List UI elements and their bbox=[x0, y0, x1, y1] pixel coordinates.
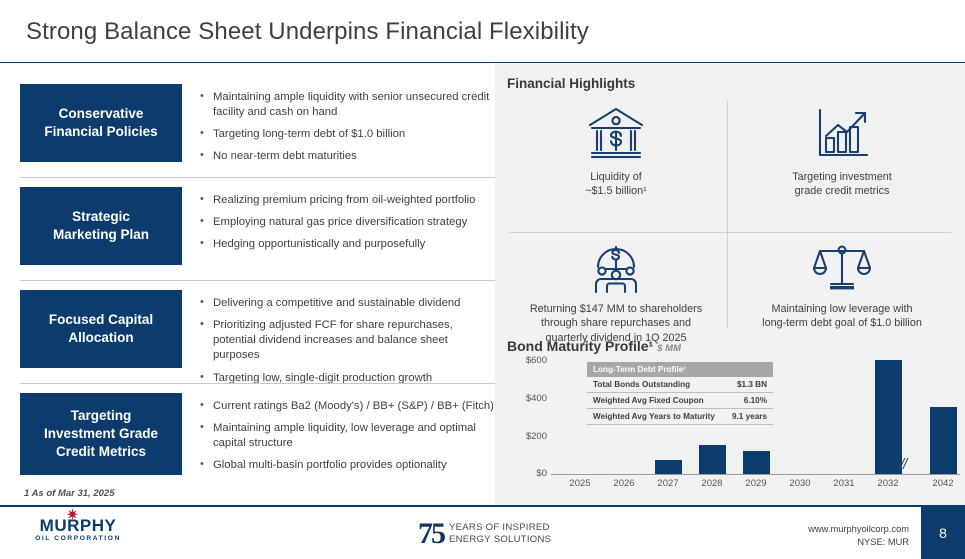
table-row: Weighted Avg Fixed Coupon 6.10% bbox=[587, 393, 773, 409]
pillar-heading-2: Strategic Marketing Plan bbox=[20, 187, 182, 265]
table-cell-value: 9.1 years bbox=[725, 409, 773, 425]
list-item: Realizing premium pricing from oil-weigh… bbox=[200, 193, 495, 208]
long-term-debt-profile-table: Long-Term Debt Profile¹ Total Bonds Outs… bbox=[587, 362, 773, 425]
pillar-conservative-financial-policies: Conservative Financial Policies Maintain… bbox=[20, 84, 495, 171]
table-row: Total Bonds Outstanding $1.3 BN bbox=[587, 377, 773, 393]
star-icon: ✷ bbox=[67, 508, 78, 521]
shareholder-returns-icon bbox=[585, 239, 647, 297]
list-item: Maintaining ample liquidity, low leverag… bbox=[200, 421, 495, 451]
chart-plot: $600 $400 $200 $0 // bbox=[505, 360, 960, 498]
pillar-divider-3 bbox=[20, 383, 495, 384]
left-pillars-column: Conservative Financial Policies Maintain… bbox=[0, 63, 495, 505]
logo-subtitle: OIL CORPORATION bbox=[18, 535, 138, 542]
bank-dollar-icon bbox=[585, 103, 647, 165]
chart-baseline bbox=[551, 474, 960, 475]
chart-y-axis: $600 $400 $200 $0 bbox=[505, 360, 547, 475]
website-link[interactable]: www.murphyoilcorp.com bbox=[808, 523, 909, 536]
axis-break-icon: // bbox=[900, 456, 906, 473]
chart-title-text: Bond Maturity Profile¹ bbox=[507, 338, 653, 354]
bar-2029 bbox=[743, 451, 770, 474]
bar-2032 bbox=[875, 360, 902, 474]
table-cell-label: Weighted Avg Fixed Coupon bbox=[587, 393, 725, 409]
x-tick-2028: 2028 bbox=[690, 478, 734, 489]
footer-links: www.murphyoilcorp.com NYSE: MUR bbox=[808, 523, 909, 550]
bond-maturity-chart: Bond Maturity Profile¹$ MM $600 $400 $20… bbox=[505, 338, 960, 503]
x-tick-2026: 2026 bbox=[602, 478, 646, 489]
x-tick-2032: 2032 bbox=[866, 478, 910, 489]
page-title: Strong Balance Sheet Underpins Financial… bbox=[26, 18, 589, 46]
highlight-cell-credit-metrics: Targeting investment grade credit metric… bbox=[733, 103, 951, 199]
pillar-bullets-1: Maintaining ample liquidity with senior … bbox=[182, 84, 495, 171]
anniversary-badge: 75 YEARS OF INSPIRED ENERGY SOLUTIONS bbox=[418, 519, 551, 549]
table-cell-label: Total Bonds Outstanding bbox=[587, 377, 725, 393]
highlight-label-credit-metrics: Targeting investment grade credit metric… bbox=[792, 170, 892, 199]
growth-chart-arrow-icon bbox=[813, 103, 871, 165]
x-tick-2042: 2042 bbox=[921, 478, 965, 489]
x-tick-2031: 2031 bbox=[822, 478, 866, 489]
list-item: Maintaining ample liquidity with senior … bbox=[200, 90, 495, 120]
list-item: No near-term debt maturities bbox=[200, 149, 495, 164]
anniversary-line-1: YEARS OF INSPIRED bbox=[449, 522, 551, 534]
y-tick-600: $600 bbox=[509, 355, 547, 366]
y-tick-200: $200 bbox=[509, 431, 547, 442]
list-item: Prioritizing adjusted FCF for share repu… bbox=[200, 318, 495, 363]
x-tick-2027: 2027 bbox=[646, 478, 690, 489]
y-tick-0: $0 bbox=[509, 468, 547, 479]
bar-2028 bbox=[699, 445, 726, 474]
pillar-bullets-4: Current ratings Ba2 (Moody's) / BB+ (S&P… bbox=[182, 393, 495, 480]
list-item: Employing natural gas price diversificat… bbox=[200, 215, 495, 230]
financial-highlights-grid: Liquidity of ~$1.5 billion¹ Targeting in… bbox=[505, 99, 955, 331]
anniversary-line-2: ENERGY SOLUTIONS bbox=[449, 534, 551, 546]
chart-plot-area: // Long-Term Debt Profile¹ Total Bonds O… bbox=[551, 360, 960, 475]
list-item: Global multi-basin portfolio provides op… bbox=[200, 458, 495, 473]
financial-highlights-heading: Financial Highlights bbox=[507, 76, 635, 91]
table-row: Weighted Avg Years to Maturity 9.1 years bbox=[587, 409, 773, 425]
highlight-label-low-leverage: Maintaining low leverage with long-term … bbox=[762, 302, 922, 331]
pillar-focused-capital-allocation: Focused Capital Allocation Delivering a … bbox=[20, 290, 495, 392]
logo-wordmark: ✷ MURPHY bbox=[18, 517, 138, 534]
table-cell-value: $1.3 BN bbox=[725, 377, 773, 393]
table-cell-value: 6.10% bbox=[725, 393, 773, 409]
highlights-horizontal-divider bbox=[509, 232, 951, 233]
pillar-strategic-marketing-plan: Strategic Marketing Plan Realizing premi… bbox=[20, 187, 495, 265]
anniversary-number: 75 bbox=[418, 519, 444, 549]
pillar-bullets-3: Delivering a competitive and sustainable… bbox=[182, 290, 495, 392]
highlight-cell-shareholder-returns: Returning $147 MM to shareholders throug… bbox=[507, 239, 725, 345]
pillar-bullets-2: Realizing premium pricing from oil-weigh… bbox=[182, 187, 495, 265]
murphy-oil-logo: ✷ MURPHY OIL CORPORATION bbox=[18, 517, 138, 542]
footnote: 1 As of Mar 31, 2025 bbox=[24, 488, 114, 499]
chart-title: Bond Maturity Profile¹$ MM bbox=[507, 338, 960, 354]
x-tick-2030: 2030 bbox=[778, 478, 822, 489]
pillar-heading-1: Conservative Financial Policies bbox=[20, 84, 182, 162]
highlight-cell-low-leverage: Maintaining low leverage with long-term … bbox=[733, 239, 951, 331]
chart-unit-label: $ MM bbox=[657, 343, 681, 354]
x-tick-2029: 2029 bbox=[734, 478, 778, 489]
y-tick-400: $400 bbox=[509, 393, 547, 404]
pillar-divider-2 bbox=[20, 280, 495, 281]
balance-scale-icon bbox=[813, 239, 871, 297]
pillar-heading-3: Focused Capital Allocation bbox=[20, 290, 182, 368]
slide-footer: ✷ MURPHY OIL CORPORATION 75 YEARS OF INS… bbox=[0, 505, 965, 559]
page-number: 8 bbox=[921, 507, 965, 559]
list-item: Current ratings Ba2 (Moody's) / BB+ (S&P… bbox=[200, 399, 495, 414]
ticker-label: NYSE: MUR bbox=[808, 536, 909, 549]
highlights-vertical-divider bbox=[727, 101, 728, 329]
list-item: Hedging opportunistically and purposeful… bbox=[200, 237, 495, 252]
highlight-label-liquidity: Liquidity of ~$1.5 billion¹ bbox=[585, 170, 647, 199]
pillar-divider-1 bbox=[20, 177, 495, 178]
bar-2042 bbox=[930, 407, 957, 474]
table-header: Long-Term Debt Profile¹ bbox=[587, 362, 773, 377]
anniversary-text: YEARS OF INSPIRED ENERGY SOLUTIONS bbox=[449, 522, 551, 546]
x-tick-2025: 2025 bbox=[558, 478, 602, 489]
right-panel: Financial Highlights bbox=[495, 63, 965, 505]
table-cell-label: Weighted Avg Years to Maturity bbox=[587, 409, 725, 425]
list-item: Delivering a competitive and sustainable… bbox=[200, 296, 495, 311]
highlight-cell-liquidity: Liquidity of ~$1.5 billion¹ bbox=[507, 103, 725, 199]
list-item: Targeting long-term debt of $1.0 billion bbox=[200, 127, 495, 142]
bar-2027 bbox=[655, 460, 682, 474]
pillar-heading-4: Targeting Investment Grade Credit Metric… bbox=[20, 393, 182, 475]
pillar-targeting-investment-grade-credit-metrics: Targeting Investment Grade Credit Metric… bbox=[20, 393, 495, 480]
chart-x-axis: 2025 2026 2027 2028 2029 2030 2031 2032 … bbox=[551, 478, 960, 494]
